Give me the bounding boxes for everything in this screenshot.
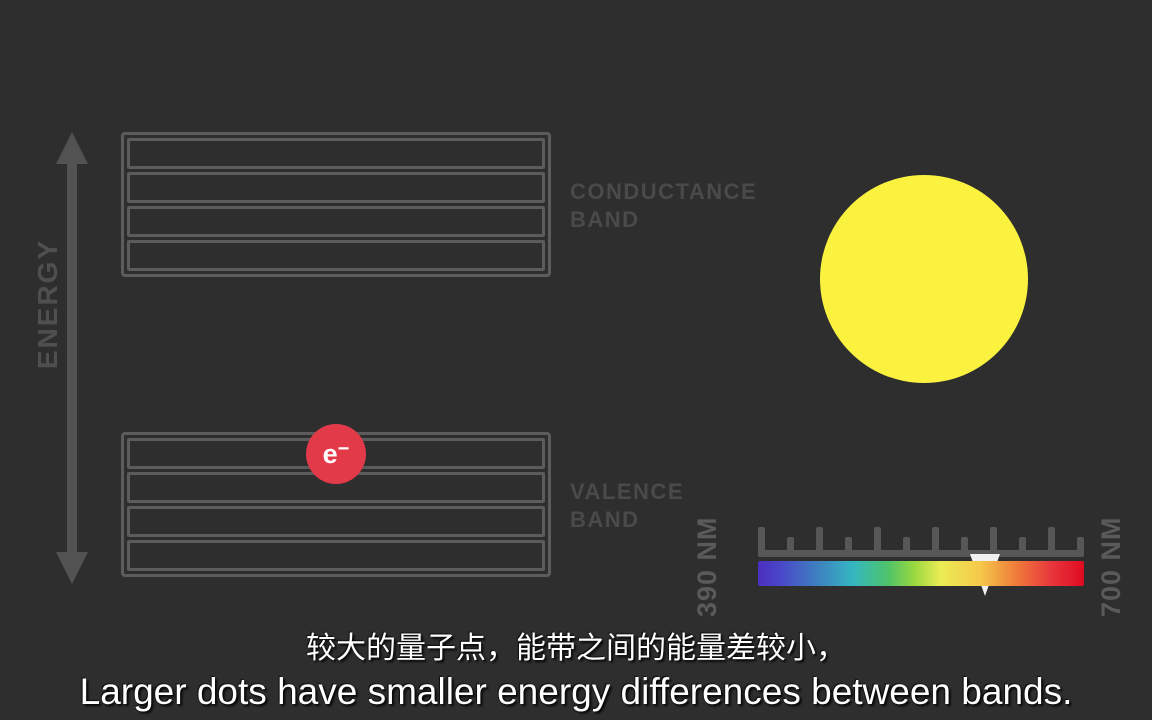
electron-marker: e− (306, 424, 366, 484)
valence-band-label: VALENCE BAND (570, 478, 684, 533)
electron-symbol: e (323, 439, 338, 470)
spectrum-max-wavelength-label: 700 NM (1096, 516, 1127, 617)
spectrum-tick-group (758, 525, 1084, 557)
conductance-band-box (121, 132, 551, 277)
spectrum-tick (1019, 537, 1026, 557)
spectrum-tick (758, 527, 765, 557)
valence-level-3 (127, 506, 545, 537)
subtitle-chinese: 较大的量子点，能带之间的能量差较小， (0, 630, 1152, 668)
spectrum-tick (845, 537, 852, 557)
conductance-level-1 (127, 138, 545, 169)
spectrum-tick (961, 537, 968, 557)
spectrum-tick (1048, 527, 1055, 557)
subtitle-english: Larger dots have smaller energy differen… (0, 668, 1152, 716)
spectrum-ruler (758, 525, 1084, 617)
subtitle-block: 较大的量子点，能带之间的能量差较小， Larger dots have smal… (0, 630, 1152, 716)
spectrum-tick (816, 527, 823, 557)
energy-axis-label: ENERGY (32, 234, 64, 374)
spectrum-tick (903, 537, 910, 557)
spectrum-tick (1077, 537, 1084, 557)
conductance-level-4 (127, 240, 545, 271)
valence-level-4 (127, 540, 545, 571)
conductance-band-label: CONDUCTANCE BAND (570, 178, 757, 233)
spectrum-tick (874, 527, 881, 557)
spectrum-widget: 390 NM 700 NM (692, 482, 1152, 617)
spectrum-tick (990, 527, 997, 557)
emission-color-dot (820, 175, 1028, 383)
scene-root: ENERGY CONDUCTANCE BAND VALENCE BAND e− … (0, 0, 1152, 720)
spectrum-tick (932, 527, 939, 557)
conductance-level-2 (127, 172, 545, 203)
spectrum-tick (787, 537, 794, 557)
spectrum-min-wavelength-label: 390 NM (692, 516, 723, 617)
spectrum-gradient-bar (758, 561, 1084, 586)
conductance-level-3 (127, 206, 545, 237)
spectrum-tick-baseline (758, 550, 1084, 557)
